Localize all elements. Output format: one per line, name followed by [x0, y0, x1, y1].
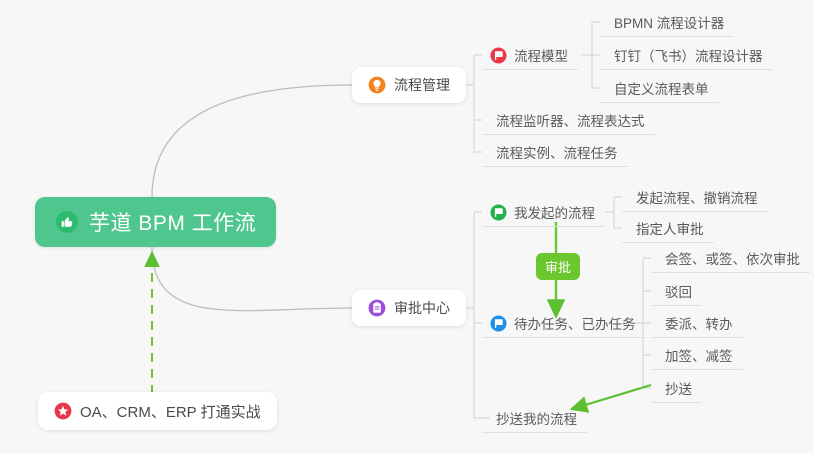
leaf-label-reject: 驳回 [665, 281, 692, 301]
edge-root-to-process-management [152, 85, 352, 197]
leaf-label-todo-done-tasks: 待办任务、已办任务 [514, 313, 636, 333]
leaf-node-bpmn-designer[interactable]: BPMN 流程设计器 [600, 8, 734, 37]
leaf-node-assignee-approval[interactable]: 指定人审批 [622, 214, 714, 243]
leaf-node-todo-done-tasks[interactable]: 待办任务、已办任务 [482, 309, 646, 338]
leaf-node-process-instance-task[interactable]: 流程实例、流程任务 [482, 138, 628, 167]
leaf-node-start-cancel-process[interactable]: 发起流程、撤销流程 [622, 183, 768, 212]
lightbulb-icon [368, 76, 386, 94]
flag-blue-icon [490, 315, 507, 332]
leaf-label-delegate-transfer: 委派、转办 [665, 313, 733, 333]
leaf-label-custom-process-form: 自定义流程表单 [614, 78, 709, 98]
leaf-label-my-initiated-process: 我发起的流程 [514, 202, 595, 222]
leaf-node-my-initiated-process[interactable]: 我发起的流程 [482, 198, 605, 227]
mindmap-canvas: 芋道 BPM 工作流 流程管理 流程模型 BPMN 流程设计器 钉钉（飞书）流程… [0, 0, 814, 453]
leaf-label-process-model: 流程模型 [514, 45, 568, 65]
branch-node-process-management[interactable]: 流程管理 [352, 67, 466, 103]
thumbs-up-icon [55, 210, 79, 234]
leaf-node-dingtalk-feishu-designer[interactable]: 钉钉（飞书）流程设计器 [600, 41, 773, 70]
branch-label-approval-center: 审批中心 [394, 298, 450, 318]
star-red-icon [54, 402, 72, 420]
leaf-label-cc: 抄送 [665, 378, 692, 398]
integration-note-node[interactable]: OA、CRM、ERP 打通实战 [38, 392, 277, 430]
leaf-label-dingtalk-feishu-designer: 钉钉（飞书）流程设计器 [614, 45, 763, 65]
leaf-label-cc-to-me-process: 抄送我的流程 [496, 408, 577, 428]
leaf-node-countersign-or-sequential[interactable]: 会签、或签、依次审批 [651, 244, 810, 273]
branch-node-approval-center[interactable]: 审批中心 [352, 290, 466, 326]
integration-note-label: OA、CRM、ERP 打通实战 [80, 401, 261, 422]
root-label: 芋道 BPM 工作流 [89, 207, 256, 237]
edge-process-management-bracket [463, 55, 482, 152]
leaf-node-reject[interactable]: 驳回 [651, 277, 702, 306]
branch-label-process-management: 流程管理 [394, 75, 450, 95]
leaf-node-delegate-transfer[interactable]: 委派、转办 [651, 309, 743, 338]
clipboard-purple-icon [368, 299, 386, 317]
edge-process-model-bracket [581, 22, 600, 88]
root-node[interactable]: 芋道 BPM 工作流 [35, 197, 276, 247]
leaf-label-countersign-or-sequential: 会签、或签、依次审批 [665, 248, 800, 268]
leaf-label-process-listener-expression: 流程监听器、流程表达式 [496, 110, 645, 130]
leaf-node-cc[interactable]: 抄送 [651, 374, 702, 403]
edge-my-initiated-bracket [605, 197, 622, 228]
leaf-node-cc-to-me-process[interactable]: 抄送我的流程 [482, 404, 587, 433]
leaf-node-custom-process-form[interactable]: 自定义流程表单 [600, 74, 719, 103]
flag-green-icon [490, 204, 507, 221]
leaf-node-process-model[interactable]: 流程模型 [482, 41, 578, 70]
approval-tag[interactable]: 审批 [536, 253, 580, 280]
leaf-node-add-remove-sign[interactable]: 加签、减签 [651, 341, 743, 370]
leaf-label-bpmn-designer: BPMN 流程设计器 [614, 12, 724, 32]
flag-red-icon [490, 47, 507, 64]
leaf-label-process-instance-task: 流程实例、流程任务 [496, 142, 618, 162]
leaf-label-add-remove-sign: 加签、减签 [665, 345, 733, 365]
edge-root-to-approval-center [152, 247, 352, 311]
leaf-node-process-listener-expression[interactable]: 流程监听器、流程表达式 [482, 106, 655, 135]
leaf-label-start-cancel-process: 发起流程、撤销流程 [636, 187, 758, 207]
approval-tag-label: 审批 [545, 257, 571, 276]
leaf-label-assignee-approval: 指定人审批 [636, 218, 704, 238]
